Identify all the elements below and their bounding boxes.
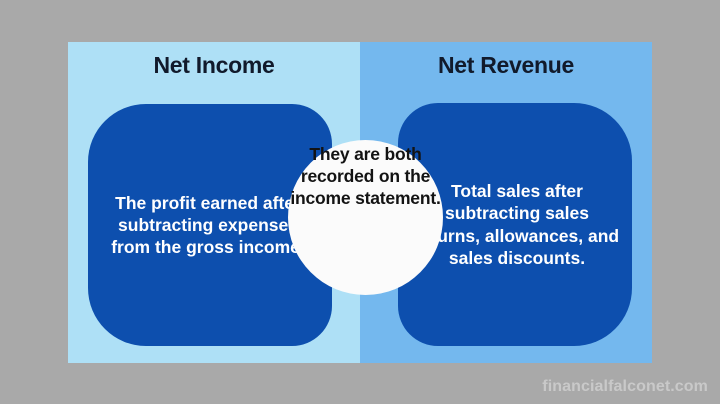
image-canvas: Net Income Net Revenue The profit earned…: [0, 0, 720, 404]
watermark-label: financialfalconet.com: [542, 378, 708, 396]
left-lobe-text: The profit earned after subtracting expe…: [100, 192, 316, 258]
overlap-text: They are both recorded on the income sta…: [288, 143, 443, 210]
right-lobe-text: Total sales after subtracting sales retu…: [414, 180, 620, 268]
right-heading: Net Revenue: [360, 53, 652, 78]
left-heading: Net Income: [68, 53, 360, 78]
